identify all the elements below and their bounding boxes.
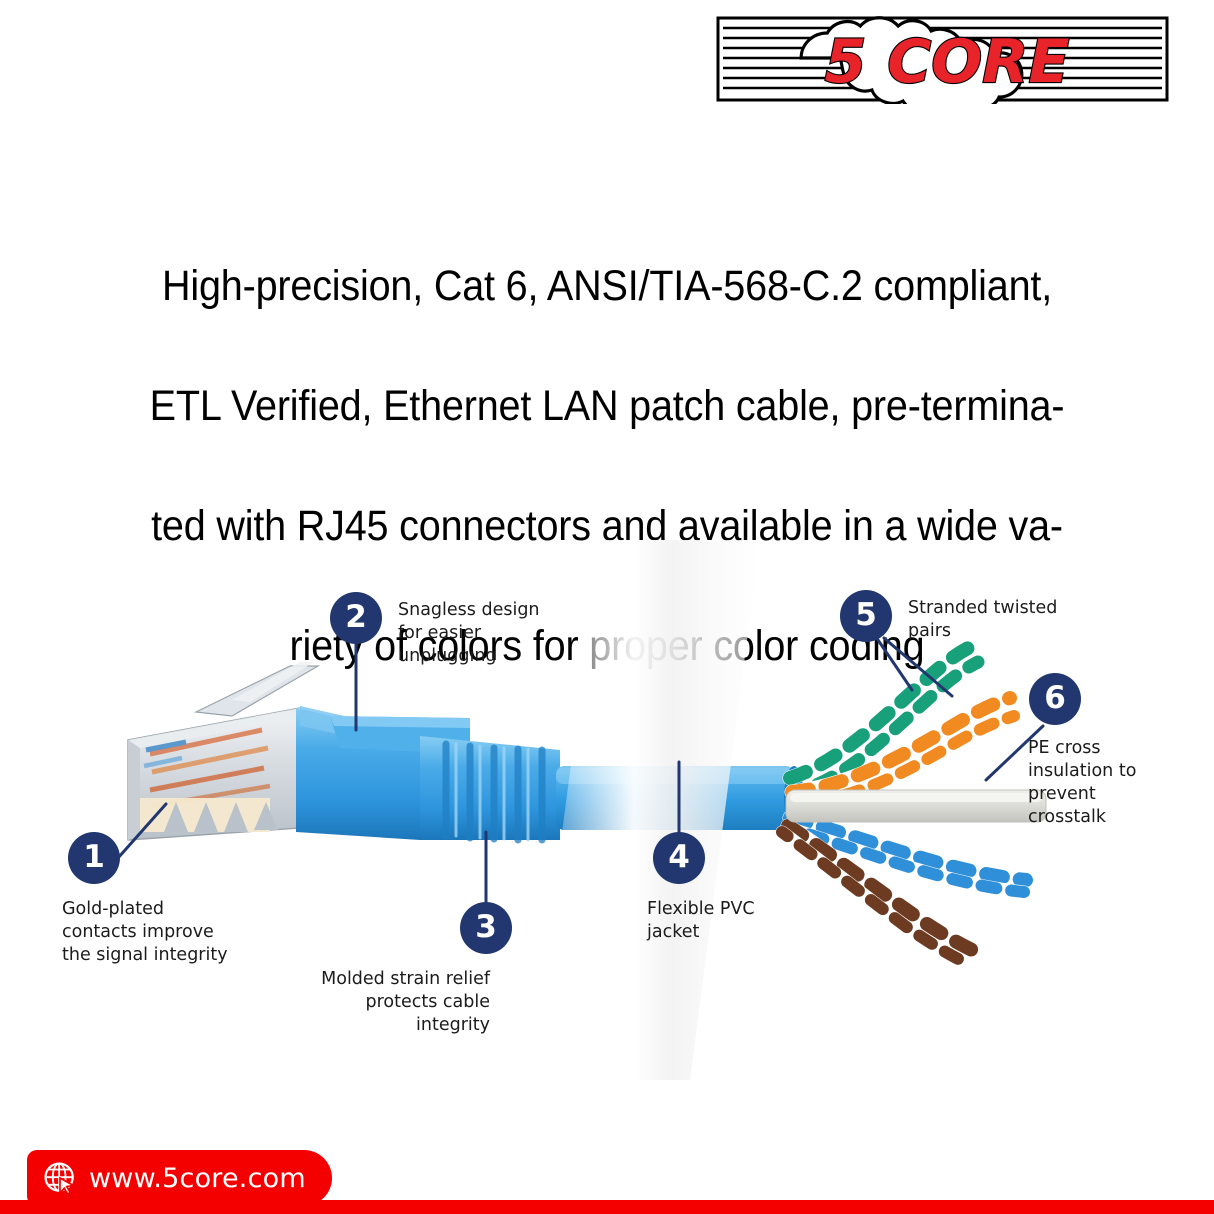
callout-5[interactable]: 5 Stranded twisted pairs: [840, 590, 1057, 643]
headline-line-1: High-precision, Cat 6, ANSI/TIA-568-C.2 …: [95, 256, 1120, 316]
callout-6-text: PE cross insulation to prevent crosstalk: [1028, 737, 1136, 829]
headline-line-2: ETL Verified, Ethernet LAN patch cable, …: [95, 376, 1120, 436]
callout-2[interactable]: 2 Snagless design for easier unplugging: [330, 592, 540, 668]
callout-6-badge: 6: [1029, 673, 1081, 725]
gold-contacts: [140, 798, 278, 832]
callout-3-text: Molded strain relief protects cable inte…: [305, 968, 490, 1037]
callout-3[interactable]: 3 Molded strain relief protects cable in…: [460, 902, 512, 1037]
callout-5-badge: 5: [840, 590, 892, 642]
callout-1-text: Gold-plated contacts improve the signal …: [62, 898, 228, 967]
callout-2-text: Snagless design for easier unplugging: [398, 599, 540, 668]
callout-4-badge: 4: [653, 832, 705, 884]
callout-2-badge: 2: [330, 592, 382, 644]
callout-1-badge: 1: [68, 832, 120, 884]
footer-url-text: www.5core.com: [89, 1163, 306, 1194]
brand-logo: 5 CORE: [715, 14, 1170, 104]
callout-4[interactable]: 4 Flexible PVC jacket: [653, 832, 755, 944]
footer-website-badge[interactable]: www.5core.com: [27, 1150, 332, 1206]
pe-cross-insulation: [786, 790, 1046, 822]
logo-wordmark: 5 CORE: [825, 27, 1070, 97]
callout-6[interactable]: 6 PE cross insulation to prevent crossta…: [1029, 673, 1136, 829]
callout-4-text: Flexible PVC jacket: [647, 898, 755, 944]
logo-graphic: 5 CORE: [715, 14, 1170, 104]
product-diagram: 1 Gold-plated contacts improve the signa…: [0, 540, 1214, 1080]
callout-1[interactable]: 1 Gold-plated contacts improve the signa…: [68, 832, 228, 967]
callout-5-text: Stranded twisted pairs: [908, 597, 1057, 643]
molded-strain-relief: [420, 736, 560, 840]
globe-cursor-icon: [43, 1161, 77, 1195]
callout-3-badge: 3: [460, 902, 512, 954]
